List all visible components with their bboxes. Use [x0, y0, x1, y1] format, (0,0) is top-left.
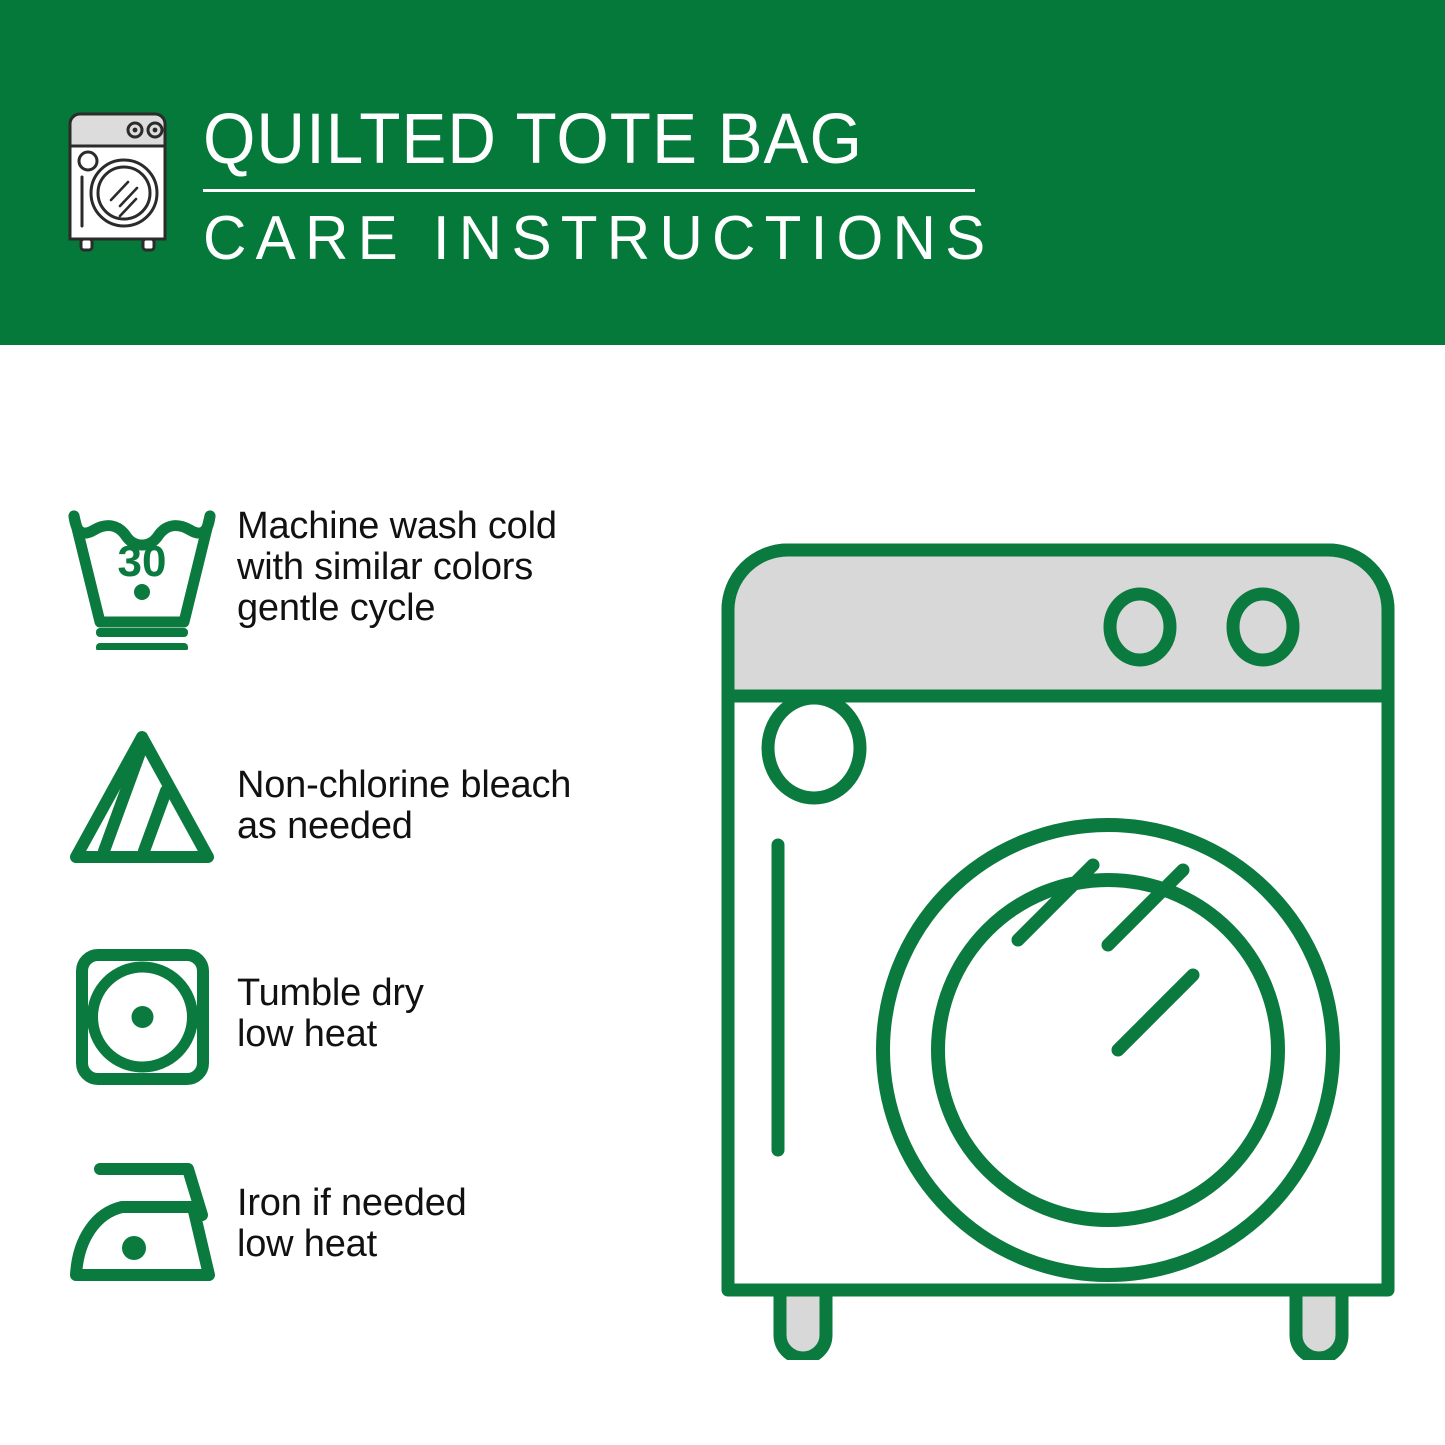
care-instruction-row: Iron if needed low heat	[62, 1155, 702, 1290]
care-instruction-text: Non-chlorine bleach as needed	[237, 725, 571, 847]
washing-machine-icon	[62, 104, 180, 252]
header-text-block: QUILTED TOTE BAG CARE INSTRUCTIONS	[203, 100, 993, 274]
care-instruction-row: Tumble dry low heat	[62, 945, 702, 1090]
care-instruction-row: Non-chlorine bleach as needed	[62, 725, 702, 870]
page-subtitle: CARE INSTRUCTIONS	[203, 204, 969, 274]
header-banner: QUILTED TOTE BAG CARE INSTRUCTIONS	[0, 0, 1445, 345]
page-title: QUILTED TOTE BAG	[203, 100, 954, 180]
care-instruction-text: Machine wash cold with similar colors ge…	[237, 500, 557, 629]
care-instruction-row: 30 Machine wash cold with similar colors…	[62, 500, 702, 650]
header-divider	[203, 189, 975, 192]
machine-wash-30-gentle-icon: 30	[62, 500, 237, 650]
care-instructions-card: QUILTED TOTE BAG CARE INSTRUCTIONS 30	[0, 0, 1445, 1445]
non-chlorine-bleach-icon	[62, 725, 237, 870]
front-load-washing-machine-illustration	[718, 470, 1398, 1360]
iron-low-heat-icon	[62, 1155, 237, 1290]
tumble-dry-low-icon	[62, 945, 237, 1090]
wash-temperature-label: 30	[118, 537, 167, 586]
care-instruction-text: Tumble dry low heat	[237, 945, 424, 1055]
care-instruction-text: Iron if needed low heat	[237, 1155, 467, 1265]
